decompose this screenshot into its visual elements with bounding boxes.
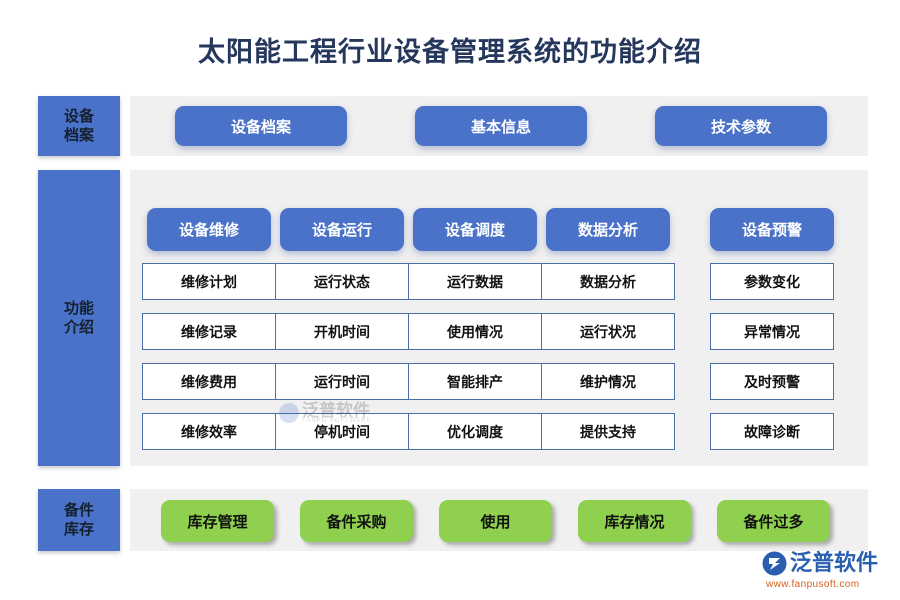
inventory-button-0[interactable]: 库存管理 (161, 500, 274, 542)
functions-cell-3-0[interactable]: 数据分析 (541, 263, 675, 300)
functions-column-header-2[interactable]: 设备调度 (413, 208, 537, 251)
row-label-functions-line1: 功能 (64, 299, 94, 318)
functions-cell-2-3[interactable]: 优化调度 (408, 413, 542, 450)
functions-cell-2-0[interactable]: 运行数据 (408, 263, 542, 300)
functions-column-header-3[interactable]: 数据分析 (546, 208, 670, 251)
functions-cell-2-2[interactable]: 智能排产 (408, 363, 542, 400)
functions-alert-header[interactable]: 设备预警 (710, 208, 834, 251)
functions-cell-1-0[interactable]: 运行状态 (275, 263, 409, 300)
row-label-archive-line2: 档案 (64, 126, 94, 145)
brand-logo: 泛普软件 www.fanpusoft.com (762, 548, 897, 594)
row-label-functions-line2: 介绍 (64, 318, 94, 337)
row-label-inventory-line1: 备件 (64, 501, 94, 520)
functions-alert-cell-3[interactable]: 故障诊断 (710, 413, 834, 450)
inventory-button-3[interactable]: 库存情况 (578, 500, 691, 542)
functions-cell-0-0[interactable]: 维修计划 (142, 263, 276, 300)
page-title: 太阳能工程行业设备管理系统的功能介绍 (0, 33, 900, 71)
inventory-button-4[interactable]: 备件过多 (717, 500, 830, 542)
functions-cell-0-3[interactable]: 维修效率 (142, 413, 276, 450)
row-label-archive-line1: 设备 (64, 107, 94, 126)
inventory-button-1[interactable]: 备件采购 (300, 500, 413, 542)
brand-logo-url: www.fanpusoft.com (766, 579, 897, 590)
row-label-archive: 设备 档案 (38, 96, 120, 156)
functions-alert-cell-0[interactable]: 参数变化 (710, 263, 834, 300)
row-label-inventory: 备件 库存 (38, 489, 120, 551)
functions-cell-0-1[interactable]: 维修记录 (142, 313, 276, 350)
archive-button-1[interactable]: 基本信息 (415, 106, 587, 146)
functions-column-header-1[interactable]: 设备运行 (280, 208, 404, 251)
functions-column-header-0[interactable]: 设备维修 (147, 208, 271, 251)
inventory-button-2[interactable]: 使用 (439, 500, 552, 542)
functions-cell-1-1[interactable]: 开机时间 (275, 313, 409, 350)
archive-button-2[interactable]: 技术参数 (655, 106, 827, 146)
brand-logo-icon (762, 551, 787, 576)
functions-cell-1-3[interactable]: 停机时间 (275, 413, 409, 450)
functions-cell-3-3[interactable]: 提供支持 (541, 413, 675, 450)
functions-cell-1-2[interactable]: 运行时间 (275, 363, 409, 400)
functions-alert-cell-1[interactable]: 异常情况 (710, 313, 834, 350)
row-label-functions: 功能 介绍 (38, 170, 120, 466)
brand-logo-name: 泛普软件 (790, 551, 878, 575)
archive-button-0[interactable]: 设备档案 (175, 106, 347, 146)
functions-cell-3-2[interactable]: 维护情况 (541, 363, 675, 400)
functions-cell-3-1[interactable]: 运行状况 (541, 313, 675, 350)
functions-cell-2-1[interactable]: 使用情况 (408, 313, 542, 350)
functions-alert-cell-2[interactable]: 及时预警 (710, 363, 834, 400)
functions-cell-0-2[interactable]: 维修费用 (142, 363, 276, 400)
row-label-inventory-line2: 库存 (64, 520, 94, 539)
